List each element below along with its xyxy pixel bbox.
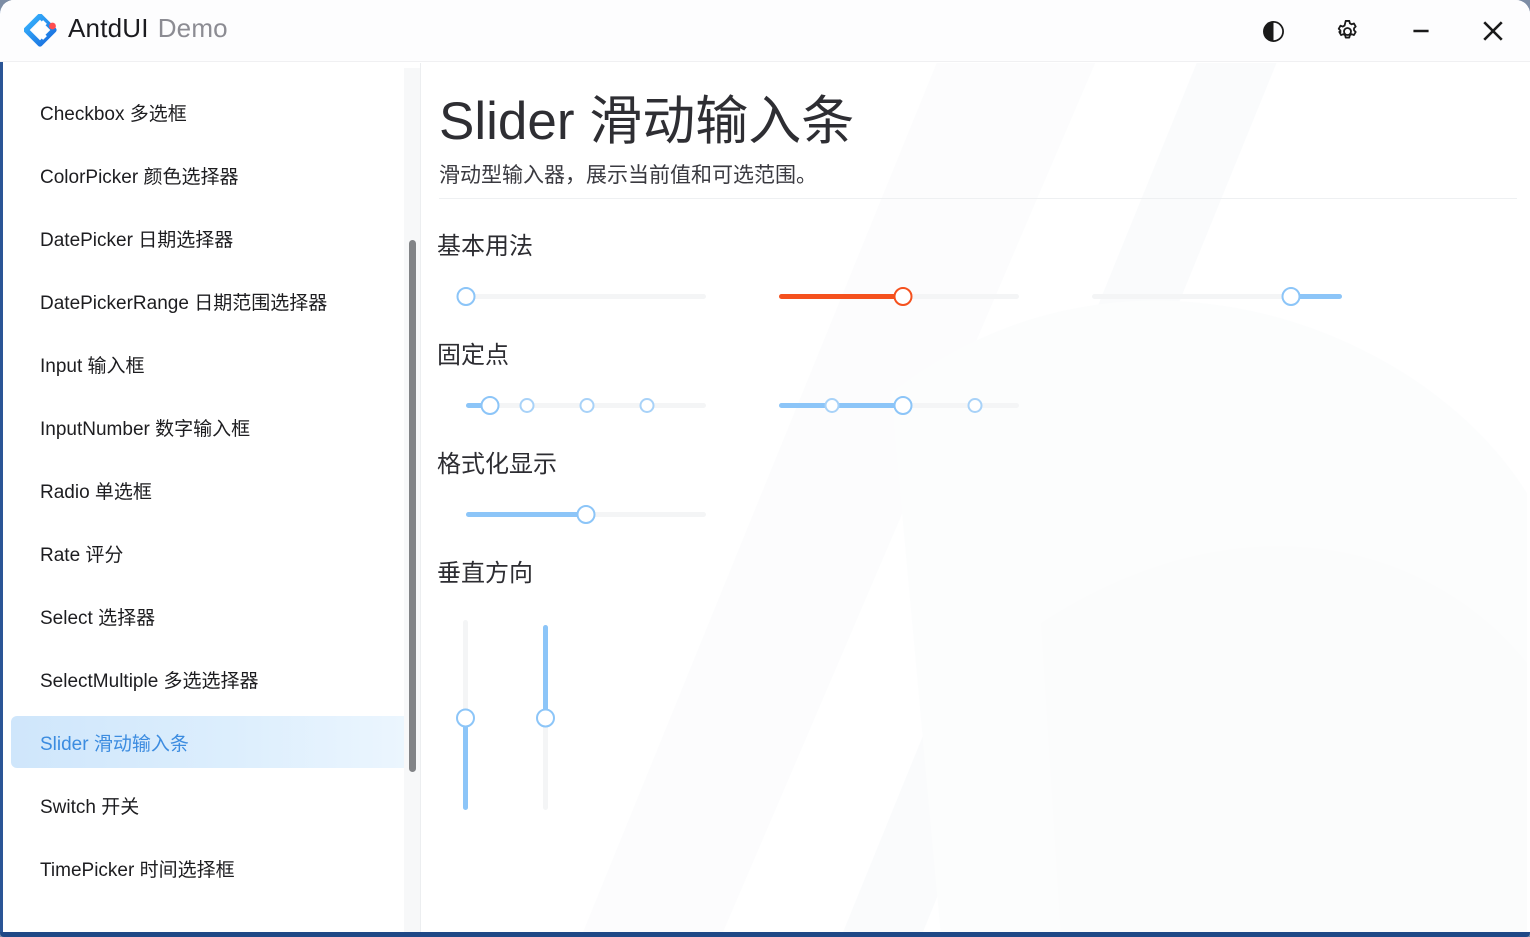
- sidebar-item-label: Rate 评分: [40, 540, 123, 567]
- sidebar-item-6[interactable]: Radio 单选框: [11, 464, 411, 516]
- slider-fill: [779, 294, 903, 299]
- settings-button[interactable]: [1324, 8, 1370, 54]
- theme-toggle-button[interactable]: [1250, 8, 1296, 54]
- sidebar-item-1[interactable]: ColorPicker 颜色选择器: [11, 149, 411, 201]
- slider-mark-dot[interactable]: [640, 398, 655, 413]
- minimize-button[interactable]: [1398, 8, 1444, 54]
- slider-handle[interactable]: [894, 396, 913, 415]
- sidebar-item-7[interactable]: Rate 评分: [11, 527, 411, 579]
- sidebar-item-label: InputNumber 数字输入框: [40, 414, 250, 441]
- slider-basic-slider-2[interactable]: [779, 281, 1019, 311]
- slider-mark-dot[interactable]: [580, 398, 595, 413]
- sidebar-item-label: TimePicker 时间选择框: [40, 855, 235, 882]
- slider-handle[interactable]: [481, 396, 500, 415]
- page-subtitle: 滑动型输入器，展示当前值和可选范围。: [439, 159, 817, 189]
- slider-handle[interactable]: [536, 709, 555, 728]
- slider-handle[interactable]: [456, 709, 475, 728]
- sidebar-item-label: DatePicker 日期选择器: [40, 225, 233, 252]
- slider-vertical-slider-2[interactable]: [530, 625, 560, 810]
- slider-track: [466, 294, 706, 299]
- sidebar-item-9[interactable]: SelectMultiple 多选选择器: [11, 653, 411, 705]
- slider-basic-slider-1[interactable]: [466, 281, 706, 311]
- sidebar-item-10[interactable]: Slider 滑动输入条: [11, 716, 411, 768]
- title-bar[interactable]: AntdUIDemo: [0, 0, 1530, 62]
- sidebar-item-label: Switch 开关: [40, 792, 139, 819]
- sidebar-item-8[interactable]: Select 选择器: [11, 590, 411, 642]
- sidebar-item-label: Radio 单选框: [40, 477, 152, 504]
- sidebar: Checkbox 多选框ColorPicker 颜色选择器DatePicker …: [3, 63, 421, 937]
- sidebar-item-12[interactable]: TimePicker 时间选择框: [11, 842, 411, 894]
- slider-handle[interactable]: [457, 287, 476, 306]
- app-title-sub: Demo: [158, 13, 228, 43]
- section-title-basic: 基本用法: [437, 226, 533, 261]
- sidebar-item-0[interactable]: Checkbox 多选框: [11, 86, 411, 138]
- gear-icon: [1334, 18, 1361, 45]
- close-button[interactable]: [1470, 8, 1516, 54]
- section-title-vertical: 垂直方向: [437, 553, 533, 588]
- sidebar-item-label: Slider 滑动输入条: [40, 729, 189, 756]
- title-divider: [439, 198, 1517, 199]
- slider-mark-dot[interactable]: [520, 398, 535, 413]
- sidebar-item-label: ColorPicker 颜色选择器: [40, 162, 238, 189]
- sidebar-item-11[interactable]: Switch 开关: [11, 779, 411, 831]
- slider-basic-slider-3[interactable]: [1092, 281, 1342, 311]
- close-icon: [1478, 16, 1508, 46]
- slider-vertical-slider-1[interactable]: [450, 620, 480, 810]
- sidebar-item-5[interactable]: InputNumber 数字输入框: [11, 401, 411, 453]
- section-title-format: 格式化显示: [437, 444, 557, 479]
- sidebar-item-2[interactable]: DatePicker 日期选择器: [11, 212, 411, 264]
- slider-fill: [543, 625, 548, 718]
- sidebar-item-4[interactable]: Input 输入框: [11, 338, 411, 390]
- app-title: AntdUIDemo: [68, 13, 228, 44]
- section-title-marks: 固定点: [437, 335, 509, 370]
- slider-mark-dot[interactable]: [968, 398, 983, 413]
- antdui-logo-icon: [24, 14, 58, 48]
- main-content: Slider 滑动输入条 滑动型输入器，展示当前值和可选范围。 基本用法 固定点…: [421, 63, 1527, 937]
- sidebar-item-label: Checkbox 多选框: [40, 99, 187, 126]
- slider-fill: [466, 512, 586, 517]
- sidebar-item-label: DatePickerRange 日期范围选择器: [40, 288, 327, 315]
- slider-dots-slider-1[interactable]: [466, 390, 706, 420]
- slider-handle[interactable]: [894, 287, 913, 306]
- slider-fill: [779, 403, 903, 408]
- app-window: AntdUIDemo Checkbo: [0, 0, 1530, 937]
- sidebar-item-3[interactable]: DatePickerRange 日期范围选择器: [11, 275, 411, 327]
- slider-mark-dot[interactable]: [825, 398, 840, 413]
- app-title-main: AntdUI: [68, 13, 149, 43]
- sidebar-scrollbar-thumb[interactable]: [409, 240, 416, 772]
- slider-dots-slider-2[interactable]: [779, 390, 1019, 420]
- slider-handle[interactable]: [1282, 287, 1301, 306]
- slider-format-slider[interactable]: [466, 499, 706, 529]
- slider-handle[interactable]: [577, 505, 596, 524]
- theme-toggle-icon: [1261, 19, 1286, 44]
- sidebar-item-label: Input 输入框: [40, 351, 145, 378]
- sidebar-item-label: SelectMultiple 多选选择器: [40, 666, 259, 693]
- minimize-icon: [1408, 18, 1434, 44]
- page-title: Slider 滑动输入条: [439, 79, 854, 155]
- sidebar-item-label: Select 选择器: [40, 603, 155, 630]
- slider-fill: [463, 718, 468, 810]
